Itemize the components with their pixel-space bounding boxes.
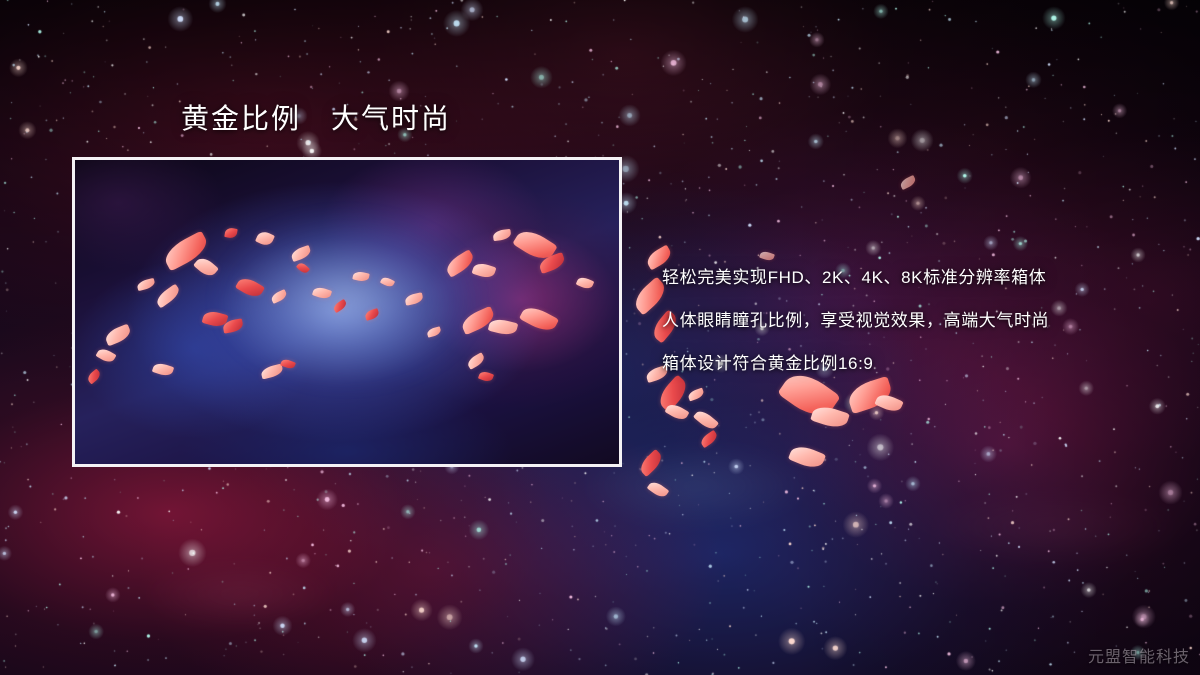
body-line-2: 人体眼睛瞳孔比例，享受视觉效果，高端大气时尚 bbox=[662, 299, 1182, 342]
body-line-3: 箱体设计符合黄金比例16:9 bbox=[662, 342, 1182, 385]
brand-watermark: 元盟智能科技 bbox=[1088, 643, 1190, 667]
slide-body-text: 轻松完美实现FHD、2K、4K、8K标准分辨率箱体 人体眼睛瞳孔比例，享受视觉效… bbox=[662, 256, 1182, 385]
body-line-1: 轻松完美实现FHD、2K、4K、8K标准分辨率箱体 bbox=[662, 256, 1182, 299]
slide-title: 黄金比例 大气时尚 bbox=[181, 103, 451, 135]
presentation-slide: 黄金比例 大气时尚 轻松完美实现FHD、2K、4K、8K标准分辨率箱体 人体眼睛… bbox=[0, 0, 1200, 675]
framed-product-image bbox=[72, 157, 622, 467]
